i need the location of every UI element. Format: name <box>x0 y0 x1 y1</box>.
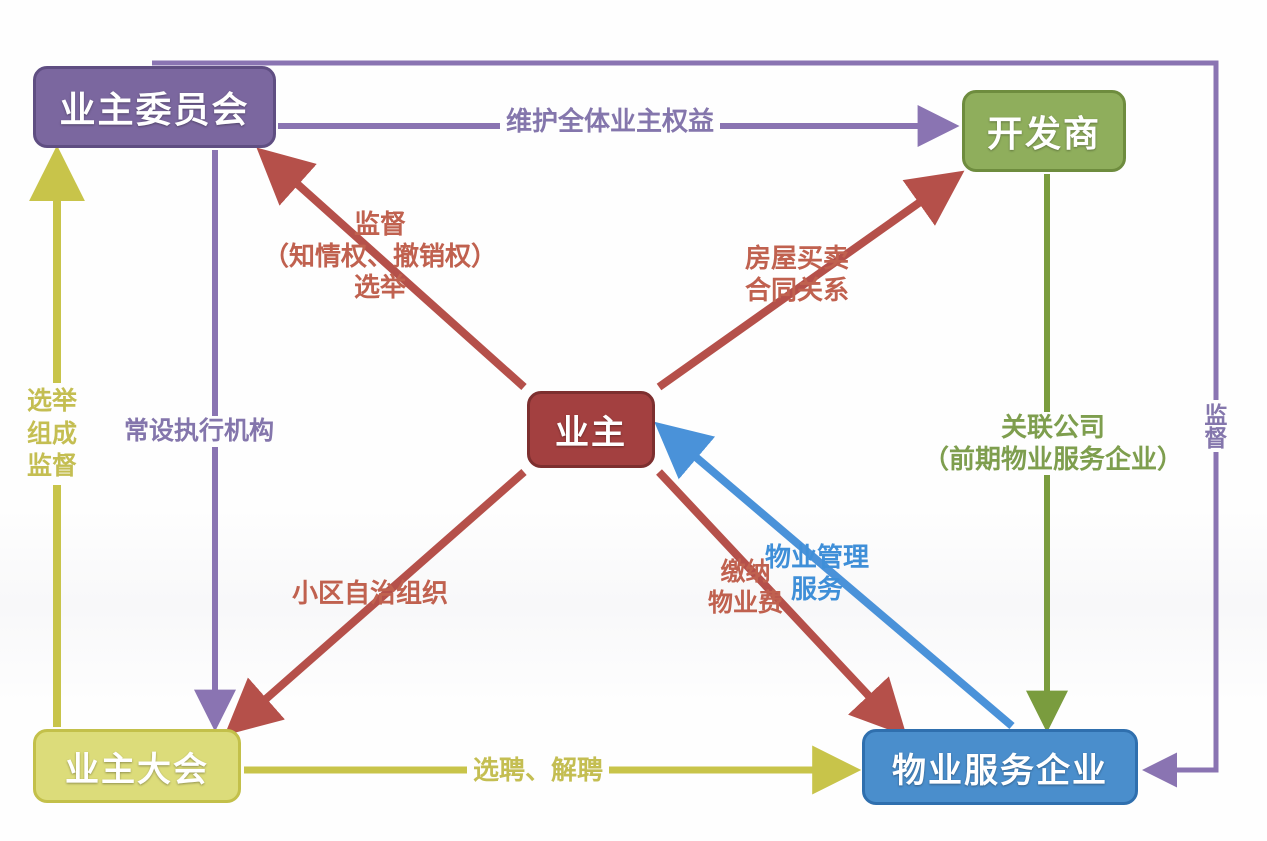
node-developer-label: 开发商 <box>987 105 1101 157</box>
node-owner[interactable]: 业主 <box>527 391 655 468</box>
node-property-service-company-label: 物业服务企业 <box>892 743 1108 792</box>
edge-label-community-self-gov: 小区自治组织 <box>292 578 448 610</box>
edge-label-supervise-rights-elect: 监督 （知情权、撤销权） 选举 <box>263 209 497 304</box>
node-owners-assembly[interactable]: 业主大会 <box>33 729 241 803</box>
diagram-canvas: 业主委员会 开发商 业主 业主大会 物业服务企业 维护全体业主权益 常设执行机构… <box>0 0 1267 841</box>
edge-label-standing-executive-body: 常设执行机构 <box>120 416 278 447</box>
node-owner-label: 业主 <box>555 405 627 454</box>
edge-label-house-sale-contract: 房屋买卖 合同关系 <box>745 243 849 306</box>
edge-label-hire-dismiss: 选聘、解聘 <box>467 755 609 787</box>
edge-label-elect-form-supervise: 选举 组成 监督 <box>24 383 80 485</box>
node-property-service-company[interactable]: 物业服务企业 <box>862 729 1138 805</box>
node-owners-assembly-label: 业主大会 <box>65 742 209 791</box>
node-developer[interactable]: 开发商 <box>962 90 1126 172</box>
edge-label-maintain-owner-rights: 维护全体业主权益 <box>500 106 720 138</box>
edge-label-affiliated-company: 关联公司 （前期物业服务企业） <box>919 412 1187 475</box>
edge-label-property-mgmt-service: 物业管理 服务 <box>765 542 869 605</box>
edge-label-supervise: 监督 <box>1196 400 1230 452</box>
node-owners-committee-label: 业主委员会 <box>59 81 249 133</box>
node-owners-committee[interactable]: 业主委员会 <box>33 66 276 148</box>
